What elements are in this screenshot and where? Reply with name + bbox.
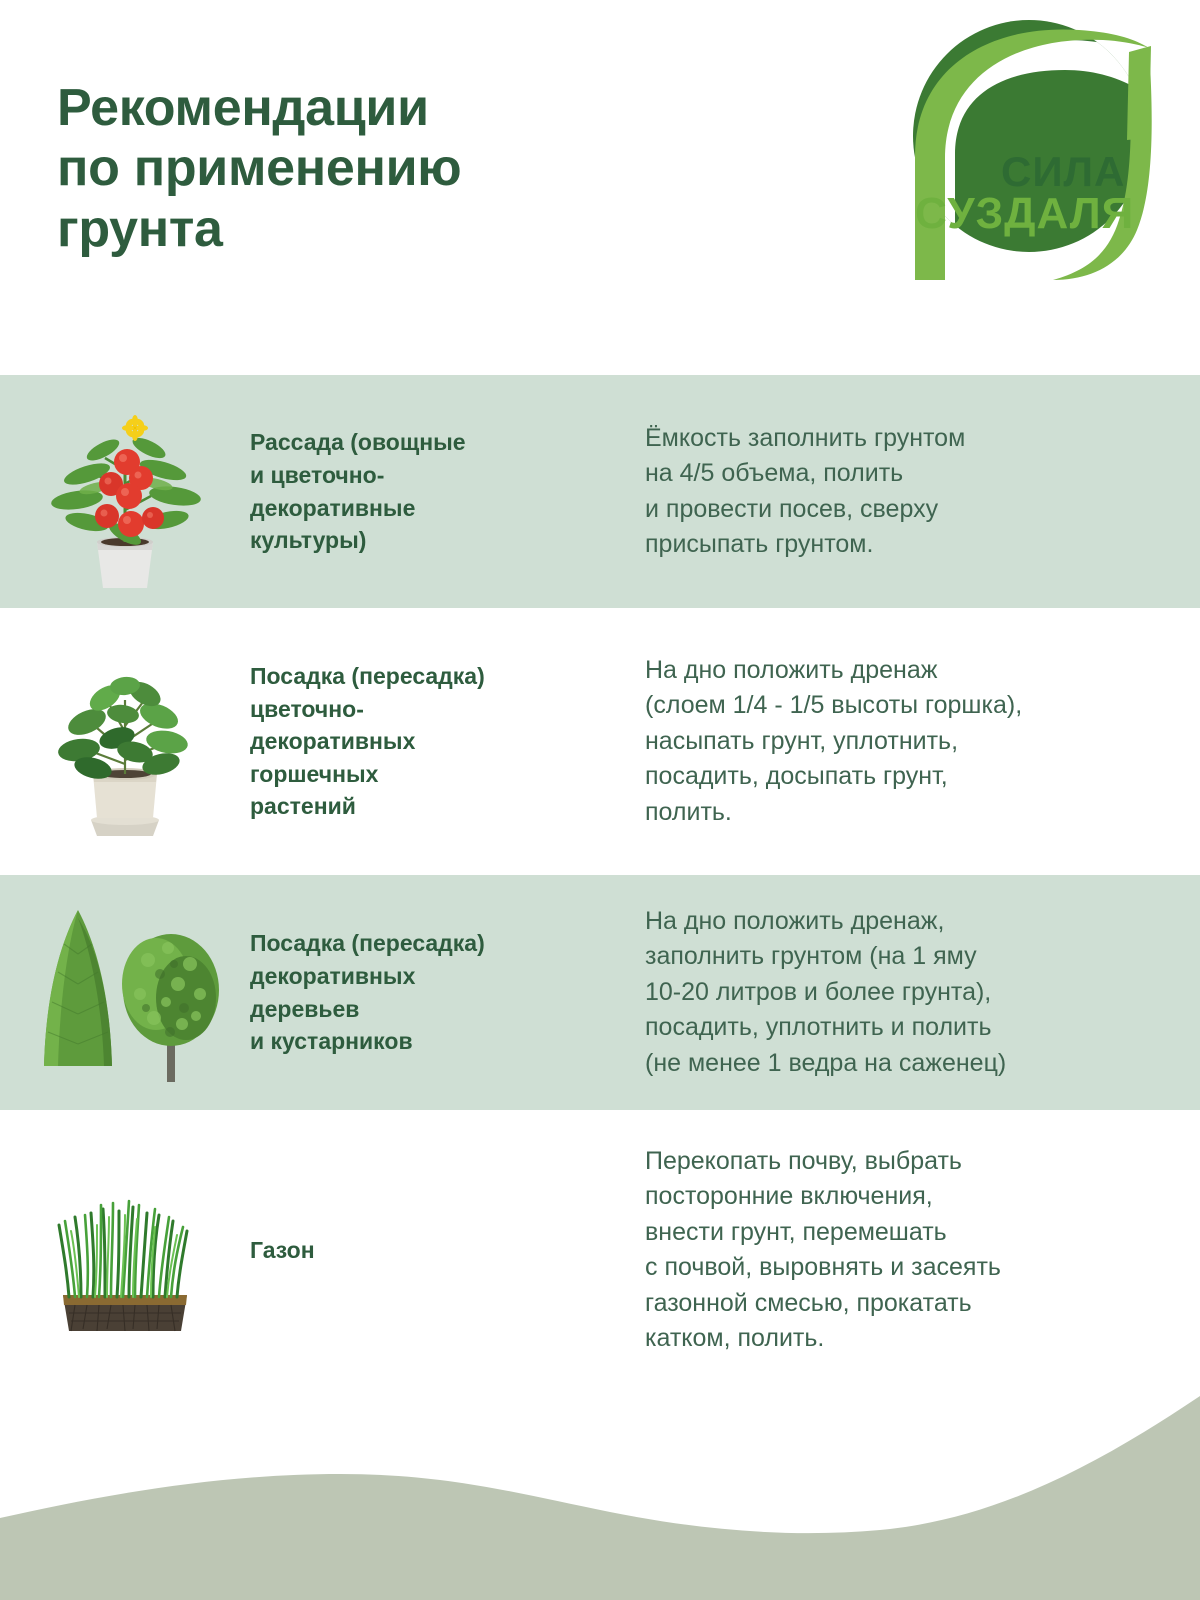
potted-houseplant-image (35, 642, 215, 842)
table-row: Рассада (овощные и цветочно- декоративны… (0, 375, 1200, 608)
row-description: Ёмкость заполнить грунтом на 4/5 объема,… (645, 421, 1200, 563)
row-title: Газон (250, 1234, 645, 1267)
header: Рекомендации по применению грунта (0, 0, 1200, 375)
row-description: Перекопать почву, выбрать посторонние вк… (645, 1144, 1200, 1357)
page-title: Рекомендации по применению грунта (57, 78, 697, 259)
decorative-trees-image (20, 898, 230, 1088)
conifer-tree-icon (44, 910, 112, 1066)
row-description: На дно положить дренаж (слоем 1/4 - 1/5 … (645, 653, 1200, 831)
table-row: Газон Перекопать почву, выбрать посторон… (0, 1110, 1200, 1390)
table-row: Посадка (пересадка) декоративных деревье… (0, 875, 1200, 1110)
round-tree-icon (122, 934, 219, 1082)
logo-line-2: СУЗДАЛЯ (915, 189, 1134, 238)
tomato-seedling-in-pot-image (35, 392, 215, 592)
row-title: Рассада (овощные и цветочно- декоративны… (250, 426, 645, 557)
wave-shape (0, 1370, 1200, 1600)
bottom-wave-decoration (0, 1370, 1200, 1600)
row-image-cell (0, 875, 250, 1110)
leaf-circle-logo-icon: СИЛА СУЗДАЛЯ (893, 18, 1165, 280)
brand-logo: СИЛА СУЗДАЛЯ (893, 18, 1165, 280)
row-image-cell (0, 1110, 250, 1390)
table-row: Посадка (пересадка) цветочно- декоративн… (0, 608, 1200, 875)
row-image-cell (0, 375, 250, 608)
recommendations-table: Рассада (овощные и цветочно- декоративны… (0, 375, 1200, 1390)
logo-line-1: СИЛА (1001, 148, 1125, 195)
row-description: На дно положить дренаж, заполнить грунто… (645, 904, 1200, 1082)
flower-icon (122, 415, 148, 441)
row-title: Посадка (пересадка) декоративных деревье… (250, 927, 645, 1058)
row-image-cell (0, 608, 250, 875)
lawn-turf-block-image (35, 1155, 215, 1345)
row-title: Посадка (пересадка) цветочно- декоративн… (250, 660, 645, 823)
infographic-page: Рекомендации по применению грунта (0, 0, 1200, 1600)
